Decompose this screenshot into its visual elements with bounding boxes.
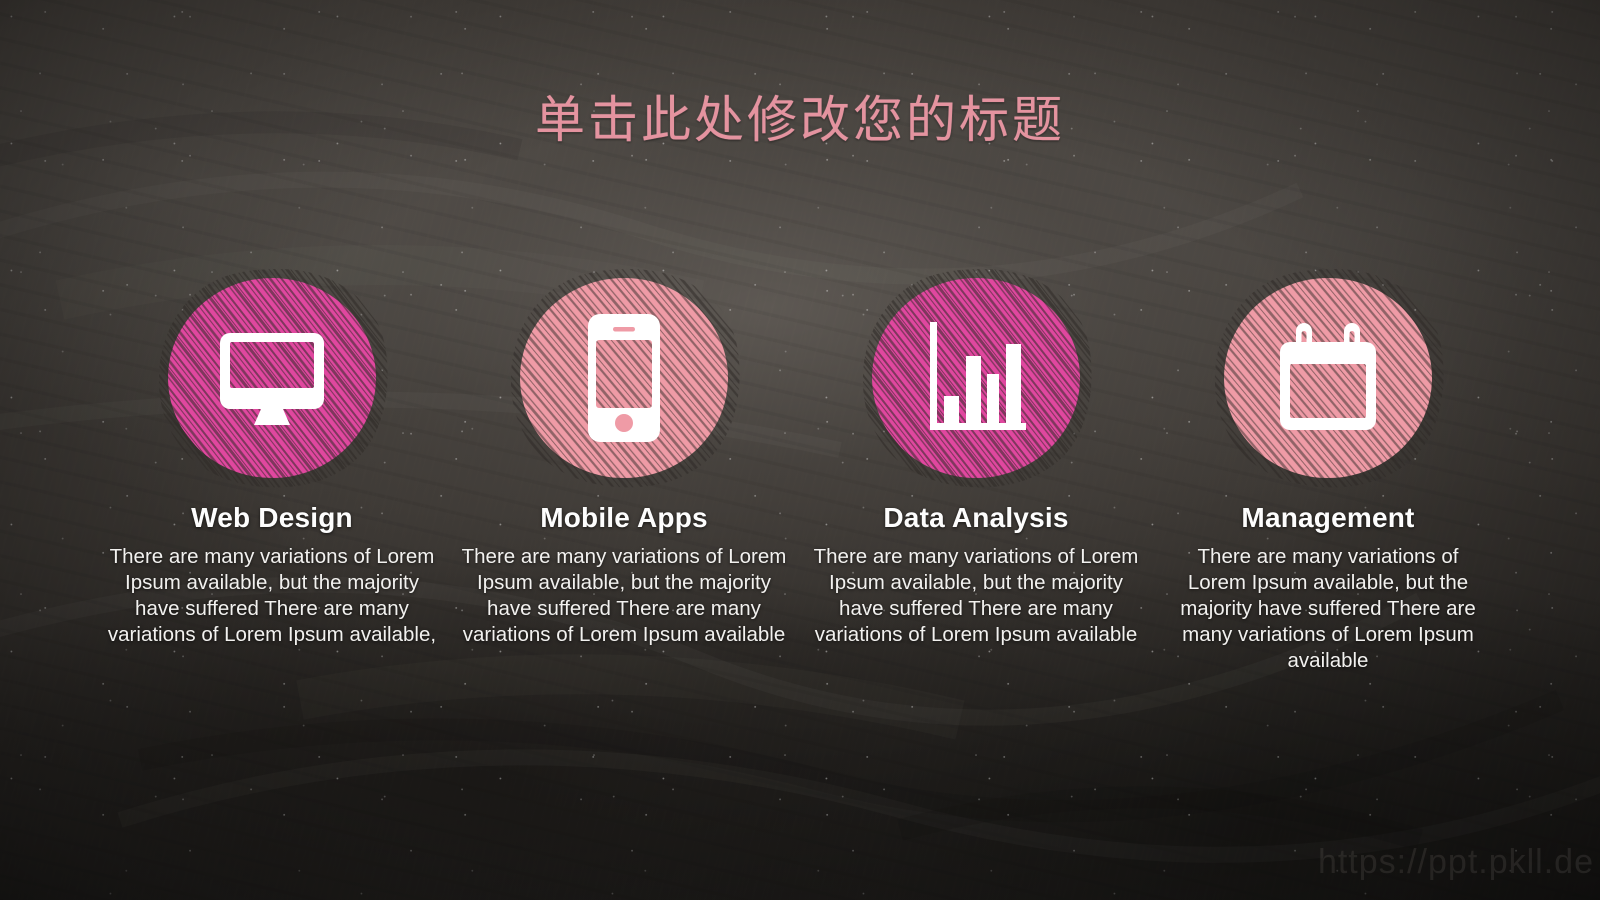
site-watermark: https://ppt.pkll.de (1318, 843, 1594, 882)
feature-column-mobile-apps[interactable]: Mobile Apps There are many variations of… (448, 278, 800, 674)
feature-body: There are many variations of Lorem Ipsum… (1176, 544, 1481, 674)
feature-title: Mobile Apps (540, 502, 708, 534)
icon-circle-management[interactable] (1224, 278, 1432, 478)
feature-title: Data Analysis (883, 502, 1068, 534)
feature-column-web-design[interactable]: Web Design There are many variations of … (96, 278, 448, 674)
icon-circle-mobile-apps[interactable] (520, 278, 728, 478)
icon-circle-web-design[interactable] (168, 278, 376, 478)
feature-column-management[interactable]: Management There are many variations of … (1152, 278, 1504, 674)
slide-title: 单击此处修改您的标题 (0, 80, 1600, 152)
feature-column-data-analysis[interactable]: Data Analysis There are many variations … (800, 278, 1152, 674)
feature-title: Web Design (191, 502, 353, 534)
feature-body: There are many variations of Lorem Ipsum… (107, 544, 437, 648)
feature-body: There are many variations of Lorem Ipsum… (459, 544, 789, 648)
feature-title: Management (1241, 502, 1414, 534)
slide-canvas: 单击此处修改您的标题 Web Design There are ma (0, 0, 1600, 900)
icon-circle-data-analysis[interactable] (872, 278, 1080, 478)
feature-body: There are many variations of Lorem Ipsum… (811, 544, 1141, 648)
feature-columns: Web Design There are many variations of … (96, 278, 1504, 674)
